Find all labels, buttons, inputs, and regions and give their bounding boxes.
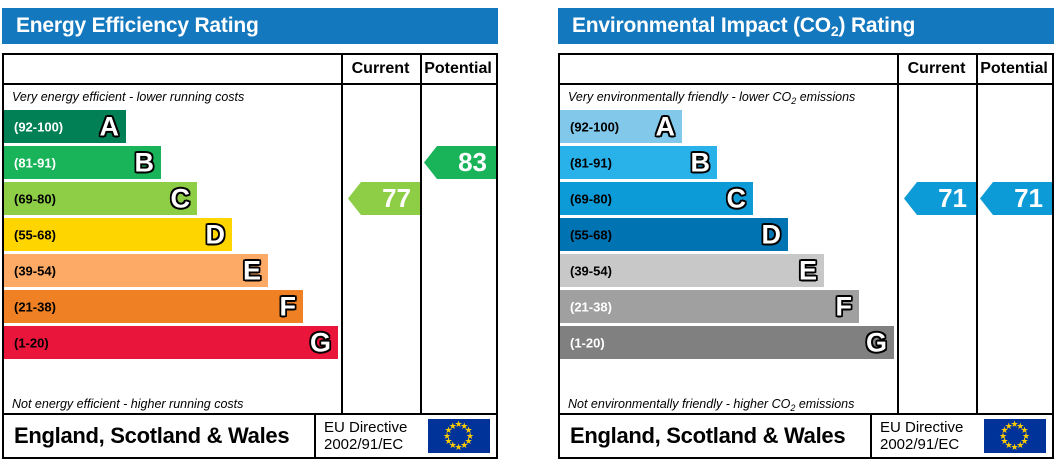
band-letter-B: B xyxy=(135,149,155,176)
chart-title-subscript: 2 xyxy=(831,23,839,39)
band-letter-D: D xyxy=(206,221,226,248)
chart-title-energy-efficiency: Energy Efficiency Rating xyxy=(2,8,498,44)
chart-title-environmental-impact: Environmental Impact (CO2) Rating xyxy=(558,8,1054,44)
column-header-potential: Potential xyxy=(976,55,1052,83)
caption-top-text: Very energy efficient - lower running co… xyxy=(12,90,244,104)
caption-bottom-text: Not energy efficient - higher running co… xyxy=(12,397,243,411)
footer-directive-line2: 2002/91/EC xyxy=(880,436,963,453)
column-divider-potential xyxy=(420,55,422,413)
band-letter-F: F xyxy=(836,293,853,320)
band-range-G: (1-20) xyxy=(14,335,49,350)
band-range-B: (81-91) xyxy=(570,155,612,170)
band-letter-A: A xyxy=(100,113,120,140)
rating-band-E: (39-54)E xyxy=(560,254,824,287)
band-range-E: (39-54) xyxy=(570,263,612,278)
rating-band-A: (92-100)A xyxy=(560,110,682,143)
rating-arrow-potential: 83 xyxy=(424,146,496,179)
chart-title-text: Environmental Impact (CO xyxy=(572,14,831,37)
chart-title-tail: ) Rating xyxy=(839,14,916,37)
rating-band-F: (21-38)F xyxy=(560,290,859,323)
caption-top: Very environmentally friendly - lower CO… xyxy=(568,86,855,108)
rating-band-E: (39-54)E xyxy=(4,254,268,287)
band-range-F: (21-38) xyxy=(570,299,612,314)
column-header-current: Current xyxy=(897,55,976,83)
rating-band-C: (69-80)C xyxy=(560,182,753,215)
rating-arrow-current: 77 xyxy=(348,182,420,215)
chart-footer-energy-efficiency: England, Scotland & WalesEU Directive200… xyxy=(4,413,496,457)
column-header-row: CurrentPotential xyxy=(4,55,496,85)
band-range-D: (55-68) xyxy=(14,227,56,242)
column-header-row: CurrentPotential xyxy=(560,55,1052,85)
footer-region-label: England, Scotland & Wales xyxy=(14,423,289,449)
eu-flag-icon: ★★★★★★★★★★★★ xyxy=(984,419,1046,453)
caption-bottom-text: Not environmentally friendly - higher CO xyxy=(568,397,790,411)
caption-bottom: Not environmentally friendly - higher CO… xyxy=(568,393,854,415)
band-letter-B: B xyxy=(691,149,711,176)
band-range-C: (69-80) xyxy=(570,191,612,206)
column-divider-current xyxy=(897,55,899,413)
chart-grid-environmental-impact: CurrentPotentialVery environmentally fri… xyxy=(558,53,1054,459)
chart-grid-energy-efficiency: CurrentPotentialVery energy efficient - … xyxy=(2,53,498,459)
band-letter-G: G xyxy=(310,329,331,356)
column-divider-potential xyxy=(976,55,978,413)
footer-divider xyxy=(314,415,316,457)
caption-bottom: Not energy efficient - higher running co… xyxy=(12,393,243,415)
eu-flag-icon: ★★★★★★★★★★★★ xyxy=(428,419,490,453)
caption-top-tail: emissions xyxy=(796,90,855,104)
epc-chart-energy-efficiency: Energy Efficiency RatingCurrentPotential… xyxy=(0,0,501,467)
footer-region-label: England, Scotland & Wales xyxy=(570,423,845,449)
rating-band-D: (55-68)D xyxy=(560,218,788,251)
caption-top: Very energy efficient - lower running co… xyxy=(12,86,244,108)
caption-bottom-subscript: 2 xyxy=(790,403,795,413)
rating-band-C: (69-80)C xyxy=(4,182,197,215)
band-range-C: (69-80) xyxy=(14,191,56,206)
footer-directive-line1: EU Directive xyxy=(324,419,407,436)
band-letter-F: F xyxy=(280,293,297,320)
column-divider-current xyxy=(341,55,343,413)
band-letter-E: E xyxy=(799,257,817,284)
rating-arrow-current: 71 xyxy=(904,182,976,215)
caption-bottom-tail: emissions xyxy=(795,397,854,411)
footer-directive-label: EU Directive2002/91/EC xyxy=(324,419,407,453)
rating-band-G: (1-20)G xyxy=(560,326,894,359)
rating-band-A: (92-100)A xyxy=(4,110,126,143)
footer-directive-label: EU Directive2002/91/EC xyxy=(880,419,963,453)
rating-band-F: (21-38)F xyxy=(4,290,303,323)
rating-band-B: (81-91)B xyxy=(4,146,161,179)
band-range-B: (81-91) xyxy=(14,155,56,170)
rating-band-B: (81-91)B xyxy=(560,146,717,179)
band-range-D: (55-68) xyxy=(570,227,612,242)
band-range-A: (92-100) xyxy=(14,119,63,134)
chart-footer-environmental-impact: England, Scotland & WalesEU Directive200… xyxy=(560,413,1052,457)
epc-chart-environmental-impact: Environmental Impact (CO2) RatingCurrent… xyxy=(556,0,1057,467)
caption-top-text: Very environmentally friendly - lower CO xyxy=(568,90,791,104)
band-range-F: (21-38) xyxy=(14,299,56,314)
column-header-current: Current xyxy=(341,55,420,83)
band-range-E: (39-54) xyxy=(14,263,56,278)
band-letter-C: C xyxy=(727,185,747,212)
caption-top-subscript: 2 xyxy=(791,96,796,106)
footer-divider xyxy=(870,415,872,457)
epc-charts-page: Energy Efficiency RatingCurrentPotential… xyxy=(0,0,1057,467)
footer-directive-line2: 2002/91/EC xyxy=(324,436,407,453)
band-letter-C: C xyxy=(171,185,191,212)
column-header-potential: Potential xyxy=(420,55,496,83)
band-range-G: (1-20) xyxy=(570,335,605,350)
band-letter-G: G xyxy=(866,329,887,356)
rating-arrow-potential: 71 xyxy=(980,182,1052,215)
rating-band-G: (1-20)G xyxy=(4,326,338,359)
rating-band-D: (55-68)D xyxy=(4,218,232,251)
band-range-A: (92-100) xyxy=(570,119,619,134)
footer-directive-line1: EU Directive xyxy=(880,419,963,436)
band-letter-E: E xyxy=(243,257,261,284)
band-letter-D: D xyxy=(762,221,782,248)
chart-title-text: Energy Efficiency Rating xyxy=(16,14,259,37)
band-letter-A: A xyxy=(656,113,676,140)
